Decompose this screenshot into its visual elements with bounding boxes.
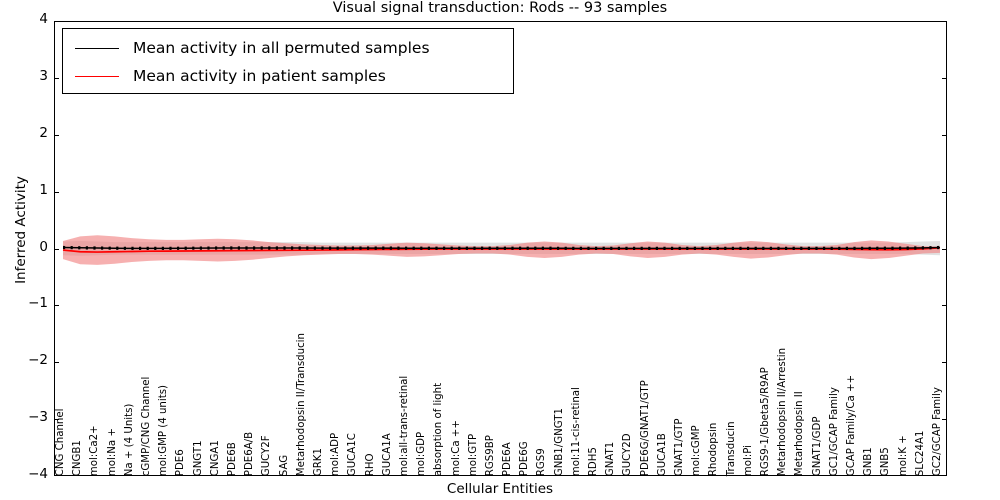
x-tick-label: CNG Channel: [56, 408, 66, 476]
x-tick-label: mol:Na +: [107, 428, 117, 476]
x-tick-label: RGS9BP: [486, 435, 496, 476]
x-tick-label: Na + (4 Units): [125, 403, 135, 476]
legend-label-permuted: Mean activity in all permuted samples: [133, 39, 430, 57]
y-tick-label: −1: [8, 297, 48, 311]
x-tick-label: mol:Ca2+: [90, 425, 100, 476]
y-tick-label: 3: [8, 70, 48, 84]
x-tick-label: GNB5: [881, 447, 891, 476]
x-tick-label: GUCA1C: [348, 433, 358, 476]
legend-line-swatch-patient: [75, 76, 119, 77]
x-tick-label: mol:ADP: [331, 433, 341, 476]
legend-label-patient: Mean activity in patient samples: [133, 67, 386, 85]
x-tick-label: GUCA1A: [383, 433, 393, 476]
x-tick-label: Metarhodopsin II/Arrestin: [778, 348, 788, 476]
x-tick-label: Transducin: [726, 421, 736, 476]
x-tick-label: RGS9-1/Gbeta5/R9AP: [761, 367, 771, 476]
x-tick-label: GC1/GCAP Family: [830, 387, 840, 476]
chart-title: Visual signal transduction: Rods -- 93 s…: [0, 0, 1000, 16]
legend-item-permuted: Mean activity in all permuted samples: [63, 34, 513, 62]
x-tick-label: Metarhodopsin II/Transducin: [297, 333, 307, 476]
x-tick-label: SAG: [279, 455, 289, 476]
x-tick-label: CNGA1: [211, 440, 221, 476]
x-tick-label: RHO: [365, 453, 375, 476]
x-tick-label: CNGB1: [73, 440, 83, 476]
x-tick-label: GNB1/GNGT1: [554, 408, 564, 476]
x-tick-label: Rhodopsin: [709, 422, 719, 476]
x-tick-label: cGMP/CNG Channel: [142, 376, 152, 476]
y-tick-label: 2: [8, 127, 48, 141]
x-tick-label: GNAT1/GDP: [812, 416, 822, 476]
x-tick-label: PDE6: [176, 449, 186, 476]
x-tick-label: RDH5: [589, 447, 599, 476]
x-tick-label: mol:all-trans-retinal: [400, 376, 410, 476]
x-tick-label: mol:Pi: [744, 445, 754, 476]
x-tick-label: mol:Ca ++: [451, 420, 461, 476]
y-tick-label: 1: [8, 184, 48, 198]
chart-legend: Mean activity in all permuted samples Me…: [62, 28, 514, 94]
legend-item-patient: Mean activity in patient samples: [63, 62, 513, 90]
x-tick-label: GNAT1/GTP: [675, 418, 685, 476]
legend-line-swatch-permuted: [75, 48, 119, 49]
x-tick-label: RGS9: [537, 448, 547, 476]
y-tick-label: −3: [8, 411, 48, 425]
y-tick-label: −2: [8, 354, 48, 368]
x-tick-label: mol:cGMP: [692, 425, 702, 476]
x-tick-label: absorption of light: [434, 383, 444, 476]
x-tick-label: mol:GDP: [417, 432, 427, 476]
x-tick-label: mol:GTP: [469, 434, 479, 476]
y-tick-label: −4: [8, 468, 48, 482]
x-tick-label: mol:GMP (4 units): [159, 385, 169, 476]
x-axis-label: Cellular Entities: [0, 481, 1000, 497]
x-tick-label: GUCY2F: [262, 435, 272, 476]
x-tick-label: GCAP Family/Ca ++: [847, 375, 857, 476]
x-tick-label: GUCY2D: [623, 433, 633, 476]
x-tick-label: GNB1: [864, 447, 874, 476]
x-tick-label: PDE6A/B: [245, 432, 255, 476]
x-tick-label: PDE6B: [228, 442, 238, 476]
chart-canvas: Visual signal transduction: Rods -- 93 s…: [0, 0, 1000, 500]
y-tick-label: 0: [8, 241, 48, 255]
x-tick-label: PDE6A: [503, 442, 513, 476]
x-tick-label: SLC24A1: [916, 430, 926, 476]
x-tick-label: mol:11-cis-retinal: [572, 387, 582, 476]
x-tick-label: GNAT1: [606, 442, 616, 476]
x-tick-label: PDE6G/GNAT1/GTP: [640, 380, 650, 476]
x-tick-label: Metarhodopsin II: [795, 391, 805, 476]
x-tick-label: GNGT1: [193, 440, 203, 476]
x-tick-label: GUCA1B: [658, 433, 668, 476]
y-tick-label: 4: [8, 13, 48, 27]
x-tick-label: PDE6G: [520, 441, 530, 476]
x-tick-label: GRK1: [314, 448, 324, 476]
x-tick-label: GC2/GCAP Family: [933, 387, 943, 476]
x-tick-label: mol:K +: [898, 435, 908, 476]
